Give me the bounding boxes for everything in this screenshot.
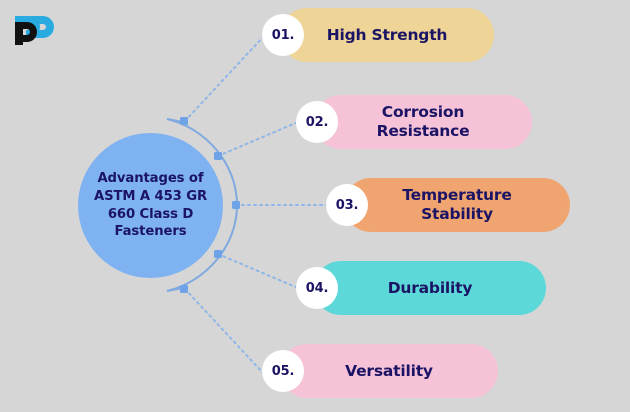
advantage-pill-5[interactable]: Versatility	[280, 344, 498, 398]
advantage-label-4: Durability	[388, 279, 473, 298]
infographic-canvas: Advantages of ASTM A 453 GR 660 Class D …	[0, 0, 630, 412]
advantage-number-2: 02.	[306, 115, 328, 130]
leader-line-5	[185, 289, 264, 374]
advantage-pill-4[interactable]: Durability	[314, 261, 546, 315]
advantage-row-4[interactable]: Durability 04.	[296, 261, 546, 315]
leader-line-1	[185, 36, 264, 121]
center-topic-circle: Advantages of ASTM A 453 GR 660 Class D …	[78, 133, 223, 278]
advantage-badge-1: 01.	[262, 14, 304, 56]
advantage-badge-2: 02.	[296, 101, 338, 143]
leader-line-2	[218, 122, 298, 156]
advantage-number-1: 01.	[272, 28, 294, 43]
advantage-pill-1[interactable]: High Strength	[280, 8, 494, 62]
advantage-label-1: High Strength	[327, 26, 448, 45]
leader-line-4	[218, 254, 298, 288]
advantage-label-5: Versatility	[345, 362, 433, 381]
advantage-pill-2[interactable]: Corrosion Resistance	[314, 95, 532, 149]
connector-node-1	[180, 117, 188, 125]
advantage-label-2: Corrosion Resistance	[377, 103, 470, 140]
center-topic-title: Advantages of ASTM A 453 GR 660 Class D …	[94, 170, 207, 240]
advantage-row-1[interactable]: High Strength 01.	[262, 8, 494, 62]
advantage-row-2[interactable]: Corrosion Resistance 02.	[296, 95, 532, 149]
advantage-number-3: 03.	[336, 198, 358, 213]
connector-node-4	[214, 250, 222, 258]
advantage-label-3: Temperature Stability	[402, 186, 511, 223]
advantage-pill-3[interactable]: Temperature Stability	[344, 178, 570, 232]
connector-node-2	[214, 152, 222, 160]
connector-node-3	[232, 201, 240, 209]
connector-node-5	[180, 285, 188, 293]
advantage-badge-3: 03.	[326, 184, 368, 226]
advantage-number-5: 05.	[272, 364, 294, 379]
advantage-badge-5: 05.	[262, 350, 304, 392]
advantage-row-5[interactable]: Versatility 05.	[262, 344, 498, 398]
advantage-number-4: 04.	[306, 281, 328, 296]
advantage-badge-4: 04.	[296, 267, 338, 309]
advantage-row-3[interactable]: Temperature Stability 03.	[326, 178, 570, 232]
